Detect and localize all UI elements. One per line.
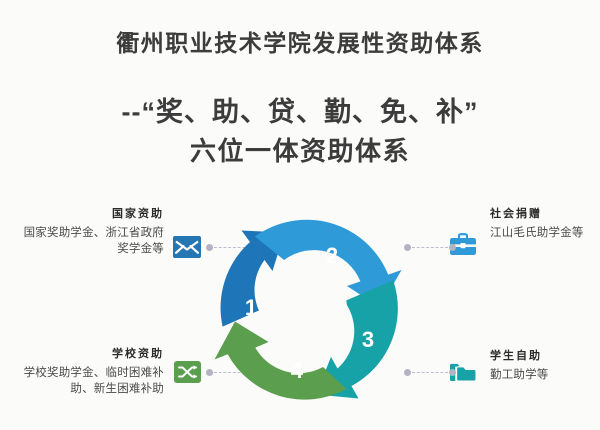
infographic-canvas: 衢州职业技术学院发展性资助体系 --“奖、助、贷、勤、免、补” 六位一体资助体系… <box>0 0 600 430</box>
callout-heading: 学生自助 <box>490 348 600 365</box>
callout-body: 江山毛氏助学金等 <box>490 225 600 241</box>
callout-body: 学校奖助学金、临时困难补助、新生困难补助 <box>14 365 164 397</box>
cycle-segment-2-number: 2 <box>326 243 338 268</box>
callout-social-donation: 社会捐赠 江山毛氏助学金等 <box>490 206 600 241</box>
connector-top-right <box>404 243 456 252</box>
subtitle-block: --“奖、助、贷、勤、免、补” 六位一体资助体系 <box>0 92 600 170</box>
connector-dash <box>412 372 448 373</box>
callout-body: 国家奖助学金、浙江省政府奖学金等 <box>14 225 164 257</box>
cycle-segment-1-number: 1 <box>245 295 257 320</box>
callout-heading: 社会捐赠 <box>490 206 600 223</box>
cycle-segment-4-number: 4 <box>291 358 304 383</box>
callout-heading: 国家资助 <box>14 206 164 223</box>
cycle-segment-3-number: 3 <box>362 327 374 352</box>
cycle-diagram: 1 2 3 4 <box>208 208 408 408</box>
connector-dot <box>449 244 456 251</box>
mail-icon <box>172 234 202 260</box>
callout-heading: 学校资助 <box>14 346 164 363</box>
connector-dash <box>412 247 448 248</box>
subtitle-line-2: 六位一体资助体系 <box>0 132 600 170</box>
page-title: 衢州职业技术学院发展性资助体系 <box>0 26 600 60</box>
cycle-center-hole <box>269 269 347 347</box>
callout-national-funding: 国家资助 国家奖助学金、浙江省政府奖学金等 <box>14 206 164 257</box>
subtitle-line-1: --“奖、助、贷、勤、免、补” <box>0 92 600 132</box>
connector-dot <box>449 369 456 376</box>
shuffle-icon <box>172 359 202 385</box>
title-block: 衢州职业技术学院发展性资助体系 <box>0 26 600 60</box>
callout-student-self-help: 学生自助 勤工助学等 <box>490 348 600 383</box>
connector-bottom-right <box>404 368 456 377</box>
callout-school-funding: 学校资助 学校奖助学金、临时困难补助、新生困难补助 <box>14 346 164 397</box>
callout-body: 勤工助学等 <box>490 367 600 383</box>
